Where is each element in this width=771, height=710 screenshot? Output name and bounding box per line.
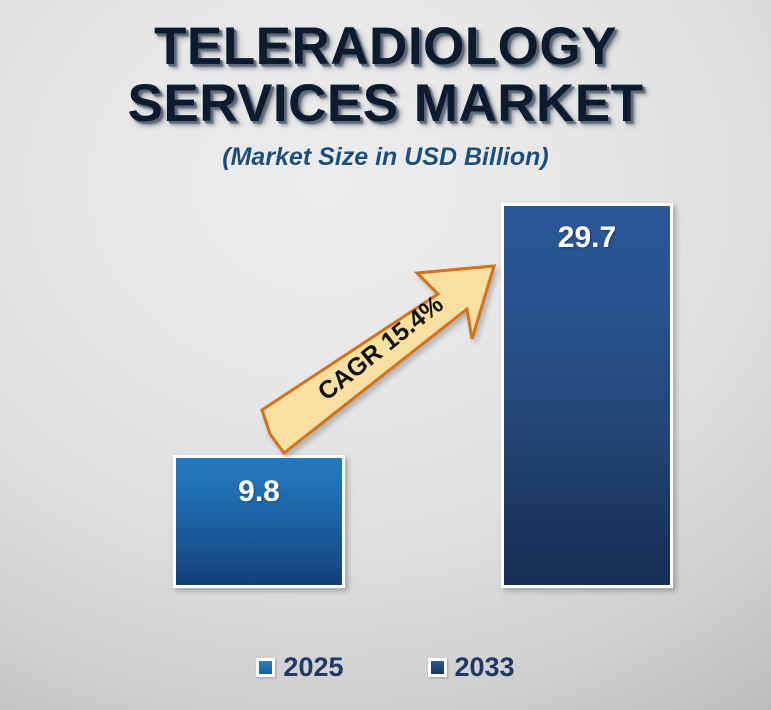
plot-area: 9.8 29.7 CAGR 15.4% (0, 0, 771, 640)
bar-2033[interactable]: 29.7 (501, 203, 673, 588)
legend-swatch-2033 (428, 658, 447, 677)
legend-item-2033[interactable]: 2033 (428, 652, 515, 683)
bar-value-2033: 29.7 (504, 221, 670, 255)
legend-item-2025[interactable]: 2025 (256, 652, 343, 683)
legend-label-2033: 2033 (455, 652, 515, 683)
bar-2025[interactable]: 9.8 (173, 455, 345, 588)
legend: 2025 2033 (0, 652, 771, 683)
legend-label-2025: 2025 (283, 652, 343, 683)
chart-canvas: TELERADIOLOGY SERVICES MARKET (Market Si… (0, 0, 771, 710)
bar-value-2025: 9.8 (176, 475, 342, 509)
legend-swatch-2025 (256, 658, 275, 677)
cagr-annotation-label: CAGR 15.4% (298, 278, 465, 419)
